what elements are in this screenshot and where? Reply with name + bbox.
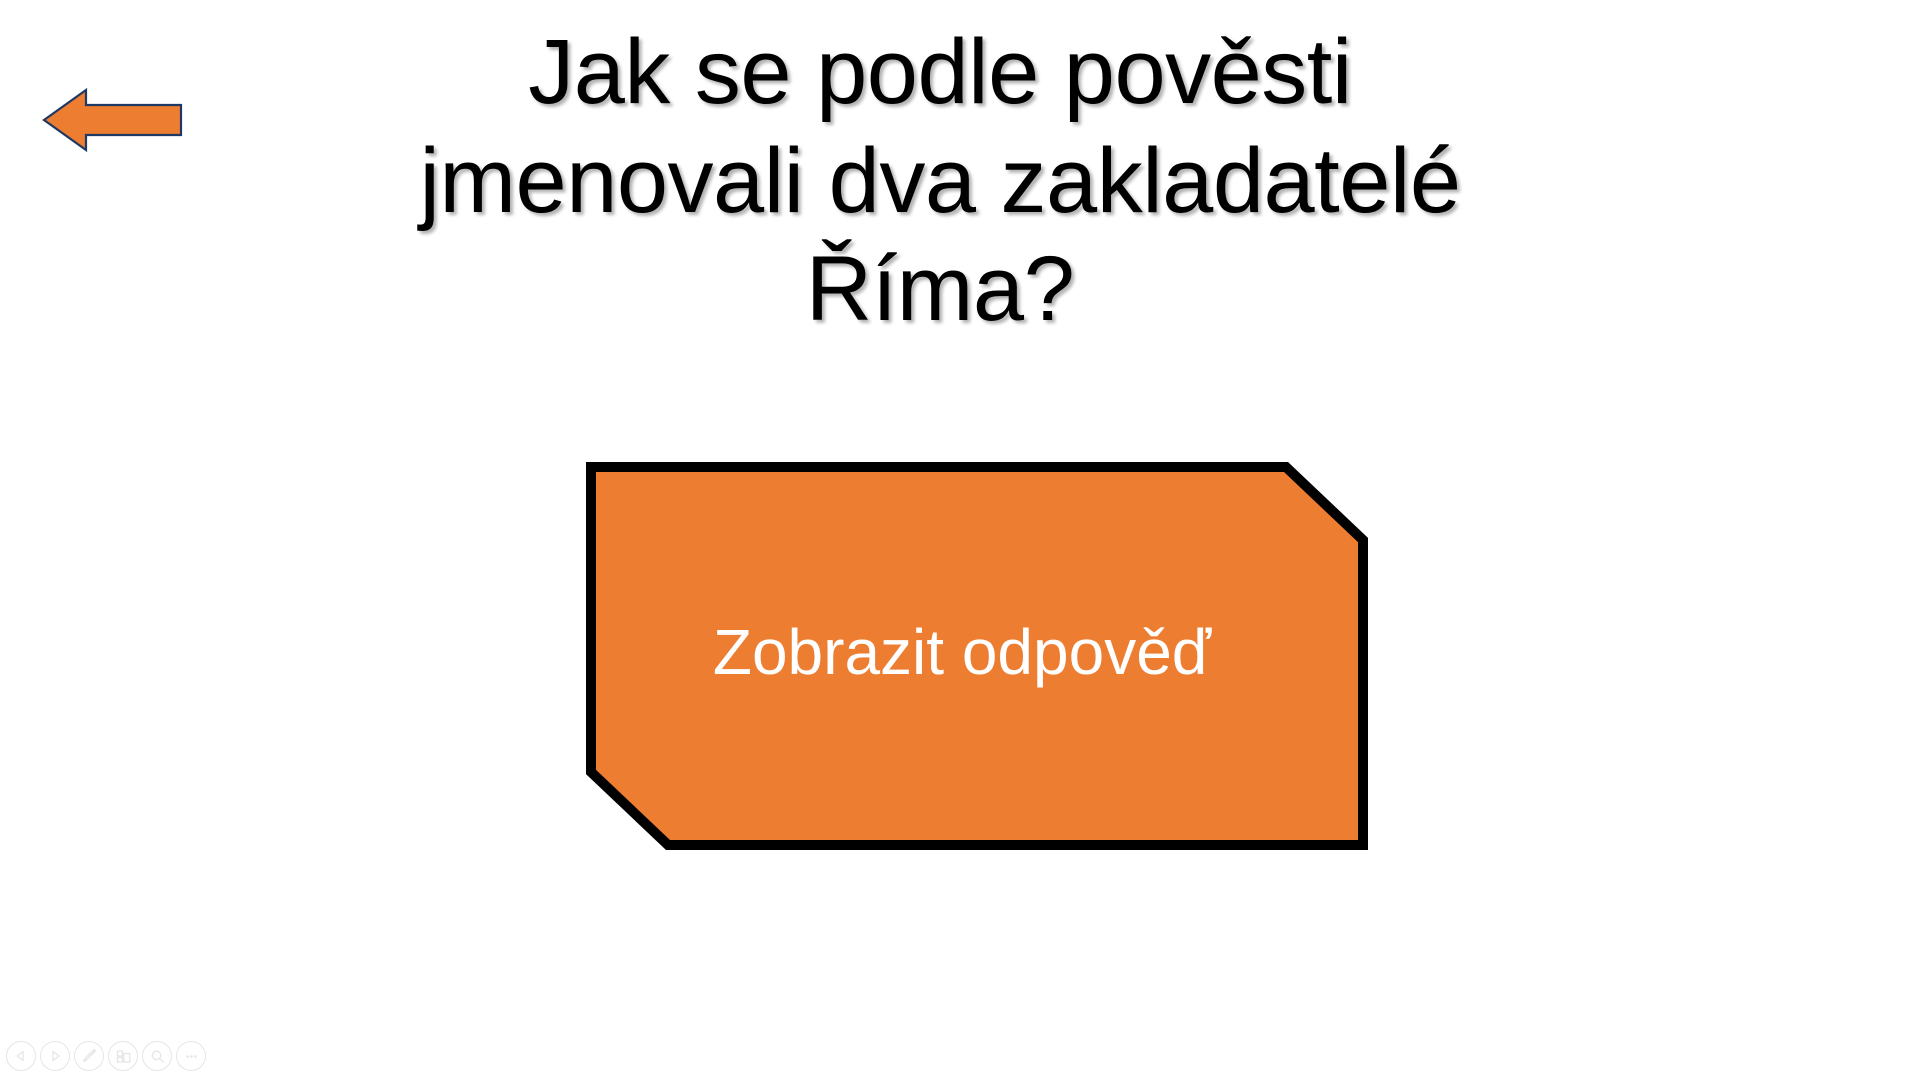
- previous-slide-button[interactable]: [6, 1041, 36, 1071]
- back-arrow-shape[interactable]: [44, 89, 182, 151]
- pen-icon: [80, 1047, 98, 1065]
- previous-slide-icon: [13, 1048, 29, 1064]
- next-slide-button[interactable]: [40, 1041, 70, 1071]
- pen-tool-button[interactable]: [74, 1041, 104, 1071]
- more-options-button[interactable]: [176, 1041, 206, 1071]
- more-options-icon: [183, 1048, 200, 1065]
- presenter-toolbar: [6, 1041, 206, 1071]
- reveal-answer-button[interactable]: Zobrazit odpověď: [586, 462, 1368, 850]
- slide-canvas: Jak se podle pověsti jmenovali dva zakla…: [0, 0, 1919, 1079]
- next-slide-icon: [47, 1048, 63, 1064]
- zoom-button[interactable]: [142, 1041, 172, 1071]
- all-slides-button[interactable]: [108, 1041, 138, 1071]
- question-title: Jak se podle pověsti jmenovali dva zakla…: [300, 18, 1580, 344]
- zoom-magnifier-icon: [149, 1048, 166, 1065]
- left-arrow-icon: [44, 89, 182, 151]
- snipped-rectangle-shape: [586, 462, 1368, 850]
- slide-grid-icon: [115, 1048, 132, 1065]
